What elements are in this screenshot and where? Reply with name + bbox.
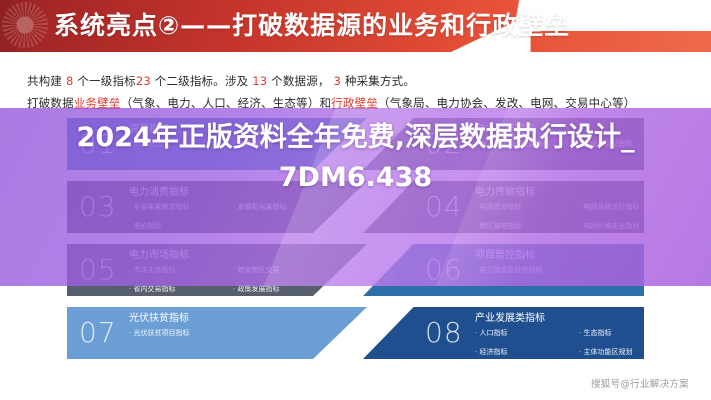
- watermark-overlay: 2024年正版资料全年免费,深层数据执行设计_ 7DM6.438: [0, 108, 711, 286]
- line1-seg2: 个一级指标: [74, 74, 136, 88]
- list-item: 经济指标: [475, 346, 579, 359]
- indicator-block-08[interactable]: 08 产业发展类指标 人口指标生态指标经济指标主体功能区规划: [363, 307, 644, 359]
- line1-seg1: 共构建: [27, 74, 66, 88]
- indicator-block-07[interactable]: 07 光伏扶贫指标 光伏扶贫项目指标: [67, 307, 367, 359]
- block-number: 08: [425, 316, 463, 350]
- indicator-row: 07 光伏扶贫指标 光伏扶贫项目指标 08 产业发展类指标 人口指标生态指标经济…: [67, 307, 644, 359]
- line1-num2: 23: [136, 74, 151, 88]
- line1-num1: 8: [66, 74, 74, 88]
- block-number: 07: [79, 316, 117, 350]
- list-item: 人口指标: [475, 327, 579, 340]
- line1-seg4: 个数据源，: [267, 74, 333, 88]
- slide-canvas: 系统亮点②——打破数据源的业务和行政壁垒 共构建 8 个一级指标23 个二级指标…: [0, 0, 711, 400]
- block-sublist: 光伏扶贫项目指标: [129, 327, 349, 346]
- watermark-text: 2024年正版资料全年免费,深层数据执行设计_ 7DM6.438: [0, 118, 711, 198]
- list-item: 光伏扶贫项目指标: [129, 327, 233, 340]
- page-title: 系统亮点②——打破数据源的业务和行政壁垒: [54, 6, 570, 46]
- list-item: 主体功能区规划: [579, 346, 644, 359]
- line1-seg3: 个二级指标。涉及: [151, 74, 252, 88]
- watermark-line-2: 7DM6.438: [0, 158, 711, 198]
- line1-num4: 3: [333, 74, 341, 88]
- line1-num3: 13: [252, 74, 267, 88]
- summary-line-1: 共构建 8 个一级指标23 个二级指标。涉及 13 个数据源， 3 种采集方式。: [27, 70, 687, 92]
- watermark-line-1: 2024年正版资料全年免费,深层数据执行设计_: [77, 122, 635, 153]
- slide-header: 系统亮点②——打破数据源的业务和行政壁垒: [0, 0, 711, 52]
- block-caption: 产业发展类指标: [475, 312, 545, 326]
- block-caption: 光伏扶贫指标: [129, 312, 189, 326]
- source-credit: 搜狐号@行业解决方案: [591, 376, 689, 390]
- line1-seg5: 种采集方式。: [341, 74, 415, 88]
- block-sublist: 人口指标生态指标经济指标主体功能区规划: [475, 327, 644, 359]
- list-item: 生态指标: [579, 327, 644, 340]
- seal-emblem-icon: [2, 2, 48, 48]
